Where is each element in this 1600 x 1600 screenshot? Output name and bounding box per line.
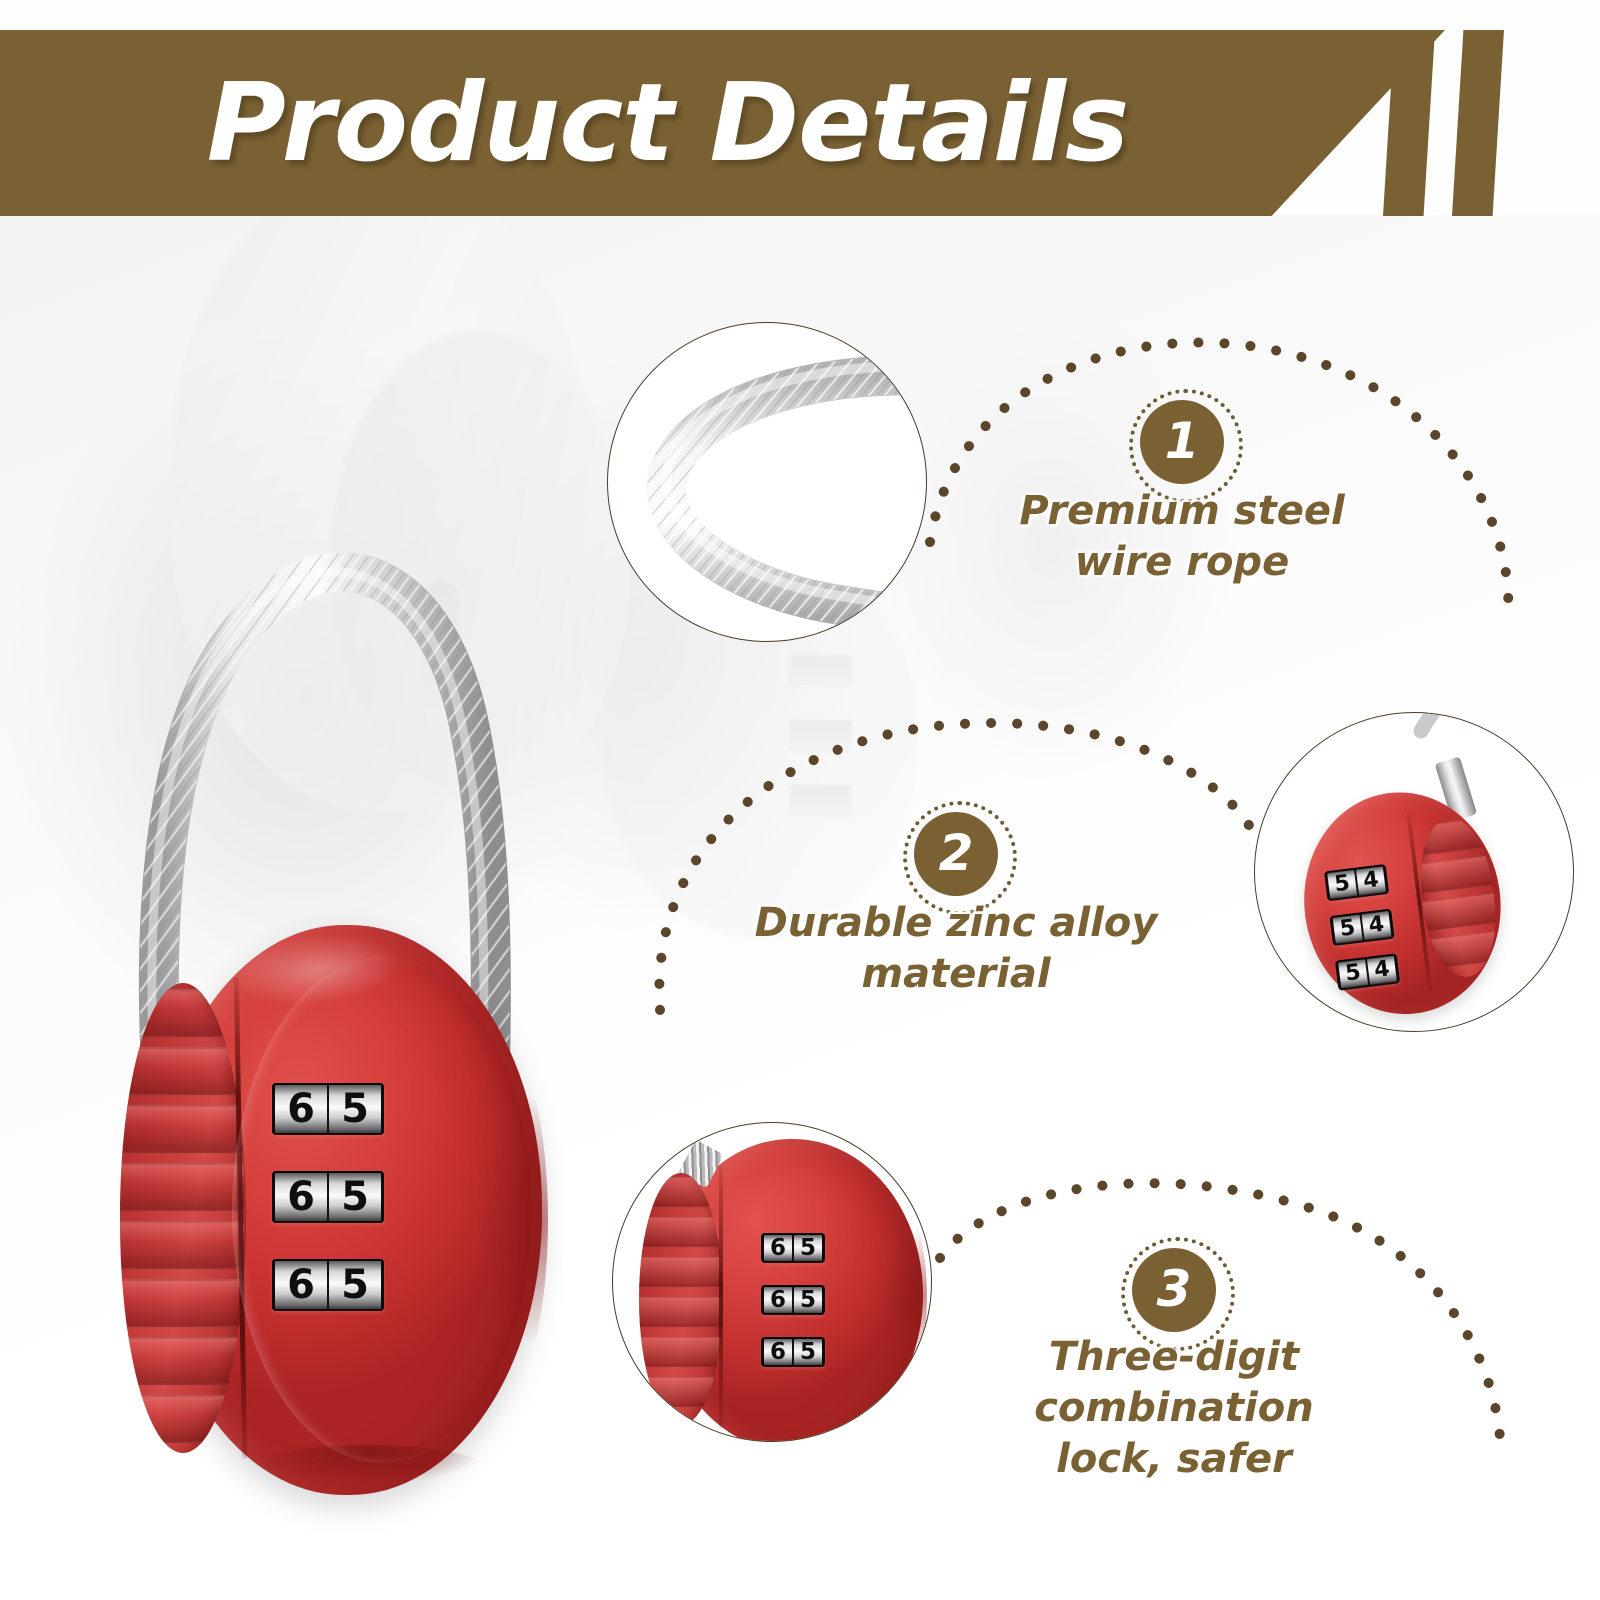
callout-badge-3: 3 [1132, 1248, 1216, 1332]
combination-dial-1[interactable]: 6 5 [272, 1083, 384, 1135]
combination-dial-2[interactable]: 6 5 [272, 1171, 384, 1223]
inset3-combination-dial-2[interactable]: 6 5 [761, 1285, 825, 1315]
page-title: Product Details [0, 30, 1445, 216]
dial-digit-right: 5 [794, 1235, 822, 1261]
dial-digit-right: 4 [1361, 911, 1391, 940]
dial-digit-left: 6 [764, 1235, 792, 1261]
dial-digit-left: 5 [1338, 959, 1368, 988]
inset-padlock-angled: 5 4 5 4 5 4 [1288, 753, 1535, 1030]
dial-digit-right: 4 [1356, 866, 1386, 895]
ghost-watermark-dial [790, 785, 852, 815]
dial-digit-left: 6 [275, 1085, 327, 1133]
callout-caption-2: Durable zinc alloy material [736, 898, 1176, 1000]
callout-caption-3: Three-digit combination lock, safer [924, 1332, 1424, 1486]
banner-slash-icon [1452, 30, 1504, 216]
inset3-combination-dial-1[interactable]: 6 5 [761, 1233, 825, 1263]
dial-digit-right: 5 [794, 1339, 822, 1365]
inset-circle-zinc-alloy: 5 4 5 4 5 4 [1254, 712, 1574, 1032]
header-banner: Product Details [0, 30, 1600, 216]
inset-padlock-seam [719, 1167, 723, 1429]
dial-digit-right: 5 [329, 1085, 381, 1133]
inset-padlock-front: 6 5 6 5 6 5 [619, 1125, 932, 1442]
dial-digit-right: 5 [794, 1287, 822, 1313]
dial-digit-left: 6 [275, 1173, 327, 1221]
callout-badge-1: 1 [1140, 400, 1224, 484]
dial-digit-right: 5 [329, 1173, 381, 1221]
wire-rope-closeup-graphic [607, 322, 927, 642]
product-details-infographic: Product Details [0, 0, 1600, 1600]
padlock-knurled-edge [120, 983, 246, 1453]
dial-digit-left: 6 [764, 1287, 792, 1313]
inset-circle-combination-dials: 6 5 6 5 6 5 [612, 1122, 932, 1442]
dial-digit-left: 5 [1333, 915, 1363, 944]
inset-padlock-side-notch [867, 1201, 927, 1391]
dial-digit-left: 6 [764, 1339, 792, 1365]
callout-caption-1: Premium steel wire rope [962, 486, 1402, 588]
ghost-watermark-dial [790, 720, 852, 750]
inset-circle-wire-rope [607, 322, 927, 642]
inset3-combination-dial-3[interactable]: 6 5 [761, 1337, 825, 1367]
combination-dial-3[interactable]: 6 5 [272, 1259, 384, 1311]
dial-digit-right: 4 [1367, 956, 1397, 985]
dial-digit-left: 5 [1327, 870, 1357, 899]
main-padlock: 6 5 6 5 6 5 [120, 905, 570, 1515]
inset-padlock-knurled-edge [639, 1173, 723, 1425]
hero-product-photo: 6 5 6 5 6 5 [60, 250, 620, 1500]
ghost-watermark-dial [790, 655, 852, 685]
dial-digit-right: 5 [329, 1261, 381, 1309]
callout-badge-2: 2 [914, 812, 998, 896]
dial-digit-left: 6 [275, 1261, 327, 1309]
